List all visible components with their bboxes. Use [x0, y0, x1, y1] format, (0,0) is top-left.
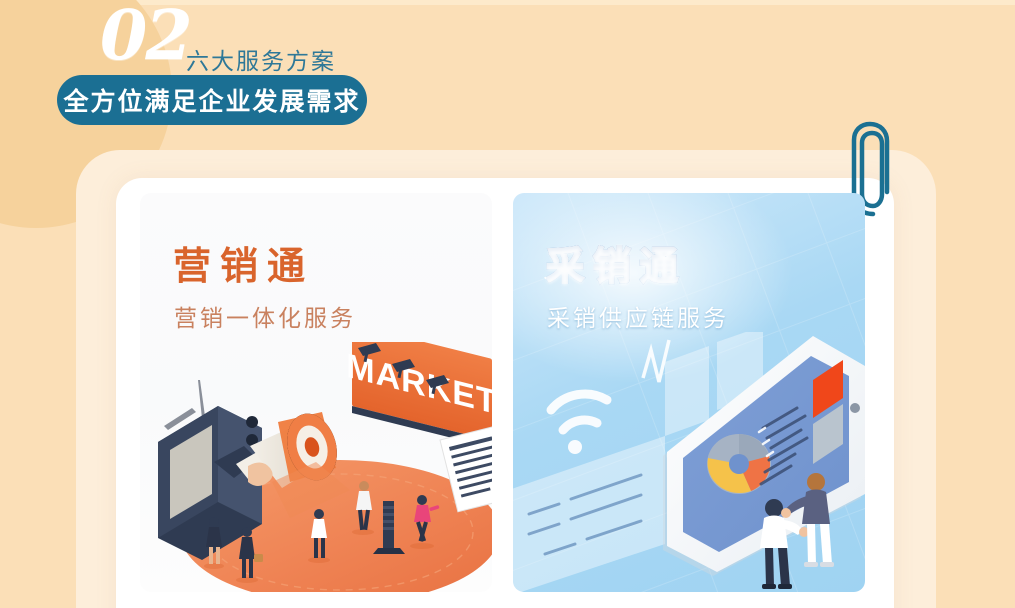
- section-tagline-text: 全方位满足企业发展需求: [63, 82, 360, 118]
- card-title: 采销通: [546, 245, 687, 289]
- card-subtitle: 采销供应链服务: [547, 304, 729, 332]
- service-card-marketing[interactable]: 营销通 营销一体化服务: [140, 193, 492, 592]
- marketing-illustration: MARKET: [140, 342, 492, 592]
- section-subtitle: 六大服务方案: [186, 48, 336, 74]
- procurement-illustration: [513, 332, 865, 592]
- section-number: 02: [100, 2, 191, 70]
- card-title: 营销通: [173, 245, 314, 289]
- section-tagline-pill: 全方位满足企业发展需求: [57, 75, 367, 125]
- service-card-procurement[interactable]: 采销通 采销供应链服务: [513, 193, 865, 592]
- card-subtitle: 营销一体化服务: [174, 304, 356, 332]
- page-root: 02 六大服务方案 全方位满足企业发展需求 营销通 营销一体化服务: [0, 0, 1015, 608]
